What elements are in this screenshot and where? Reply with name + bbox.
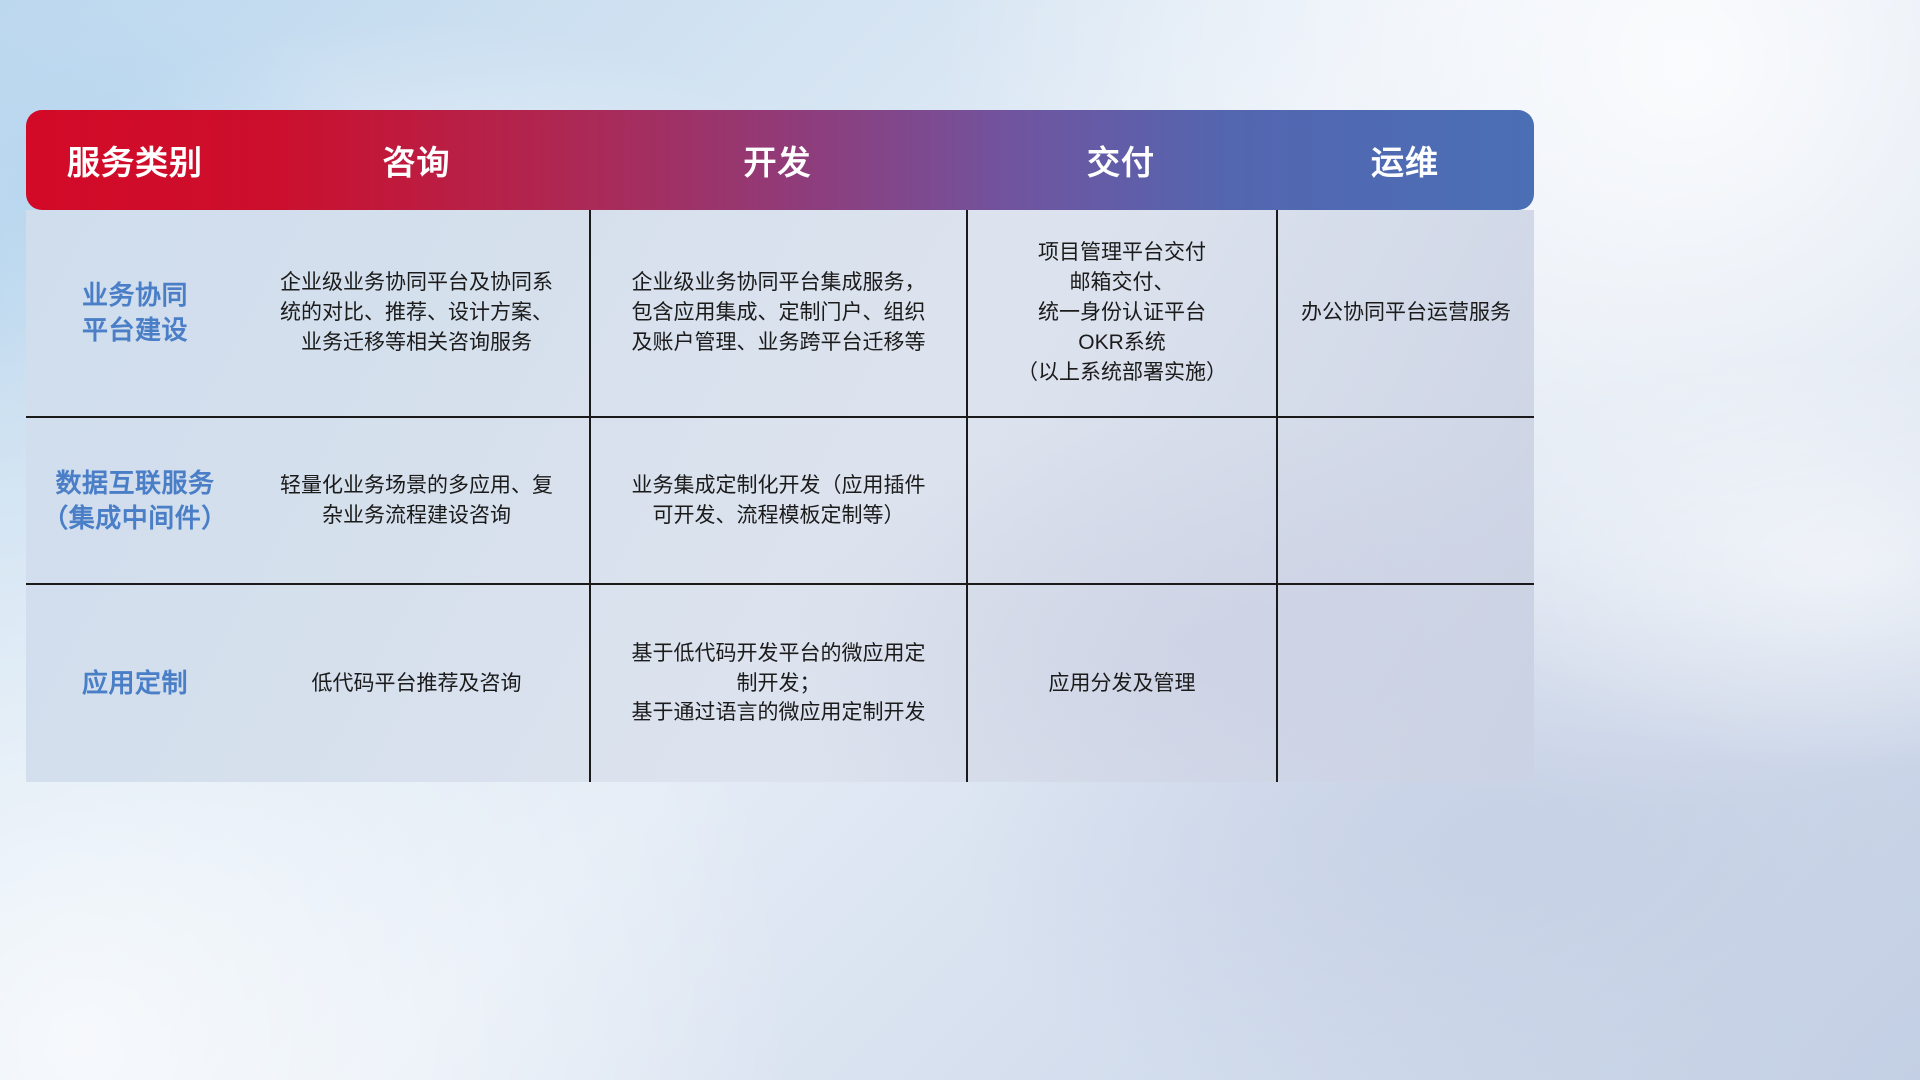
row-label-app-customization: 应用定制 xyxy=(26,585,244,782)
cell-r2-delivery xyxy=(966,418,1276,583)
cell-r3-development: 基于低代码开发平台的微应用定 制开发； 基于通过语言的微应用定制开发 xyxy=(589,585,966,782)
cell-r1-operations: 办公协同平台运营服务 xyxy=(1276,210,1534,416)
row-label-data-interconnect: 数据互联服务 （集成中间件） xyxy=(26,418,244,583)
cell-r1-consulting: 企业级业务协同平台及协同系 统的对比、推荐、设计方案、 业务迁移等相关咨询服务 xyxy=(244,210,589,416)
cell-r3-operations xyxy=(1276,585,1534,782)
table-row: 数据互联服务 （集成中间件） 轻量化业务场景的多应用、复 杂业务流程建设咨询 业… xyxy=(26,418,1534,585)
cell-r3-delivery: 应用分发及管理 xyxy=(966,585,1276,782)
cell-r2-consulting: 轻量化业务场景的多应用、复 杂业务流程建设咨询 xyxy=(244,418,589,583)
table-header-row: 服务类别 咨询 开发 交付 运维 xyxy=(26,110,1534,210)
table-body: 业务协同 平台建设 企业级业务协同平台及协同系 统的对比、推荐、设计方案、 业务… xyxy=(26,210,1534,782)
cell-r1-development: 企业级业务协同平台集成服务， 包含应用集成、定制门户、组织 及账户管理、业务跨平… xyxy=(589,210,966,416)
table-row: 业务协同 平台建设 企业级业务协同平台及协同系 统的对比、推荐、设计方案、 业务… xyxy=(26,210,1534,418)
header-cell-delivery: 交付 xyxy=(966,136,1276,184)
cell-r2-operations xyxy=(1276,418,1534,583)
cell-r2-development: 业务集成定制化开发（应用插件 可开发、流程模板定制等） xyxy=(589,418,966,583)
service-matrix-table: 服务类别 咨询 开发 交付 运维 业务协同 平台建设 企业级业务协同平台及协同系… xyxy=(26,110,1534,782)
row-label-business-collaboration: 业务协同 平台建设 xyxy=(26,210,244,416)
header-cell-operations: 运维 xyxy=(1276,136,1534,184)
header-cell-consulting: 咨询 xyxy=(244,136,589,184)
table-row: 应用定制 低代码平台推荐及咨询 基于低代码开发平台的微应用定 制开发； 基于通过… xyxy=(26,585,1534,782)
cell-r1-delivery: 项目管理平台交付 邮箱交付、 统一身份认证平台 OKR系统 （以上系统部署实施） xyxy=(966,210,1276,416)
header-cell-service-category: 服务类别 xyxy=(26,136,244,184)
header-cell-development: 开发 xyxy=(589,136,966,184)
cell-r3-consulting: 低代码平台推荐及咨询 xyxy=(244,585,589,782)
